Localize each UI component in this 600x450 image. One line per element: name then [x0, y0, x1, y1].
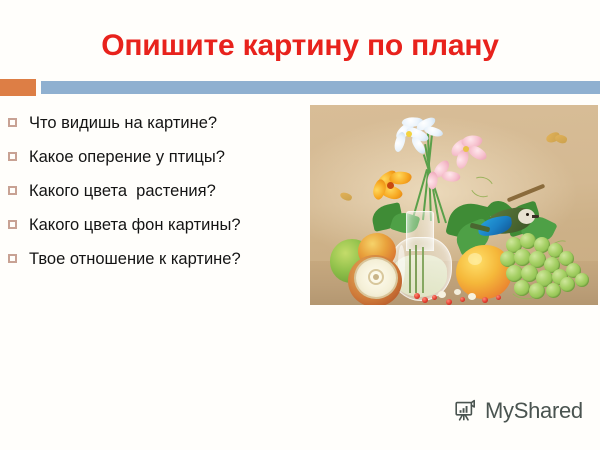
- currant-berry: [446, 299, 452, 305]
- cut-apple-core-inner: [373, 274, 379, 280]
- grape: [529, 283, 545, 299]
- white-blossom: [438, 291, 446, 298]
- vase-stem-in-water: [415, 245, 417, 293]
- square-bullet-icon: [8, 152, 17, 161]
- square-bullet-icon: [8, 186, 17, 195]
- question-text: Что видишь на картине?: [29, 110, 308, 136]
- currant-berry: [460, 297, 465, 302]
- divider-accent-block: [0, 79, 36, 96]
- bird-eye-icon: [526, 213, 529, 216]
- flower-center: [406, 131, 412, 137]
- mango-highlight: [468, 253, 482, 265]
- flower-center: [463, 146, 469, 152]
- grape: [514, 280, 530, 296]
- currant-berry: [414, 293, 420, 299]
- question-text: Твое отношение к картине?: [29, 246, 308, 272]
- still-life-painting: [310, 105, 598, 305]
- square-bullet-icon: [8, 118, 17, 127]
- grape: [575, 273, 589, 287]
- question-list: Что видишь на картине? Какое оперение у …: [8, 110, 308, 280]
- vase-stem-in-water: [409, 249, 411, 293]
- white-blossom: [454, 289, 461, 295]
- myshared-logo[interactable]: MyShared: [452, 398, 583, 424]
- currant-berry: [432, 295, 437, 300]
- currant-berry: [482, 297, 488, 303]
- list-item: Твое отношение к картине?: [8, 246, 308, 280]
- question-text: Какого цвета фон картины?: [29, 212, 308, 238]
- list-item: Какого цвета растения?: [8, 178, 308, 212]
- question-text: Какое оперение у птицы?: [29, 144, 308, 170]
- divider-bar: [41, 81, 600, 94]
- currant-berry: [422, 297, 428, 303]
- grape: [560, 277, 575, 292]
- white-blossom: [468, 293, 476, 300]
- vase-stem-in-water: [422, 247, 424, 293]
- square-bullet-icon: [8, 254, 17, 263]
- page-title: Опишите картину по плану: [0, 26, 600, 66]
- square-bullet-icon: [8, 220, 17, 229]
- currant-berry: [496, 295, 501, 300]
- question-text: Какого цвета растения?: [29, 178, 308, 204]
- grape: [546, 283, 561, 298]
- flipchart-chart-icon: [452, 398, 478, 424]
- list-item: Какого цвета фон картины?: [8, 212, 308, 246]
- myshared-logo-text: MyShared: [485, 398, 583, 424]
- slide-canvas: Опишите картину по плану Что видишь на к…: [0, 0, 600, 450]
- list-item: Что видишь на картине?: [8, 110, 308, 144]
- bird-beak-icon: [532, 215, 539, 218]
- list-item: Какое оперение у птицы?: [8, 144, 308, 178]
- flower-center: [387, 182, 394, 189]
